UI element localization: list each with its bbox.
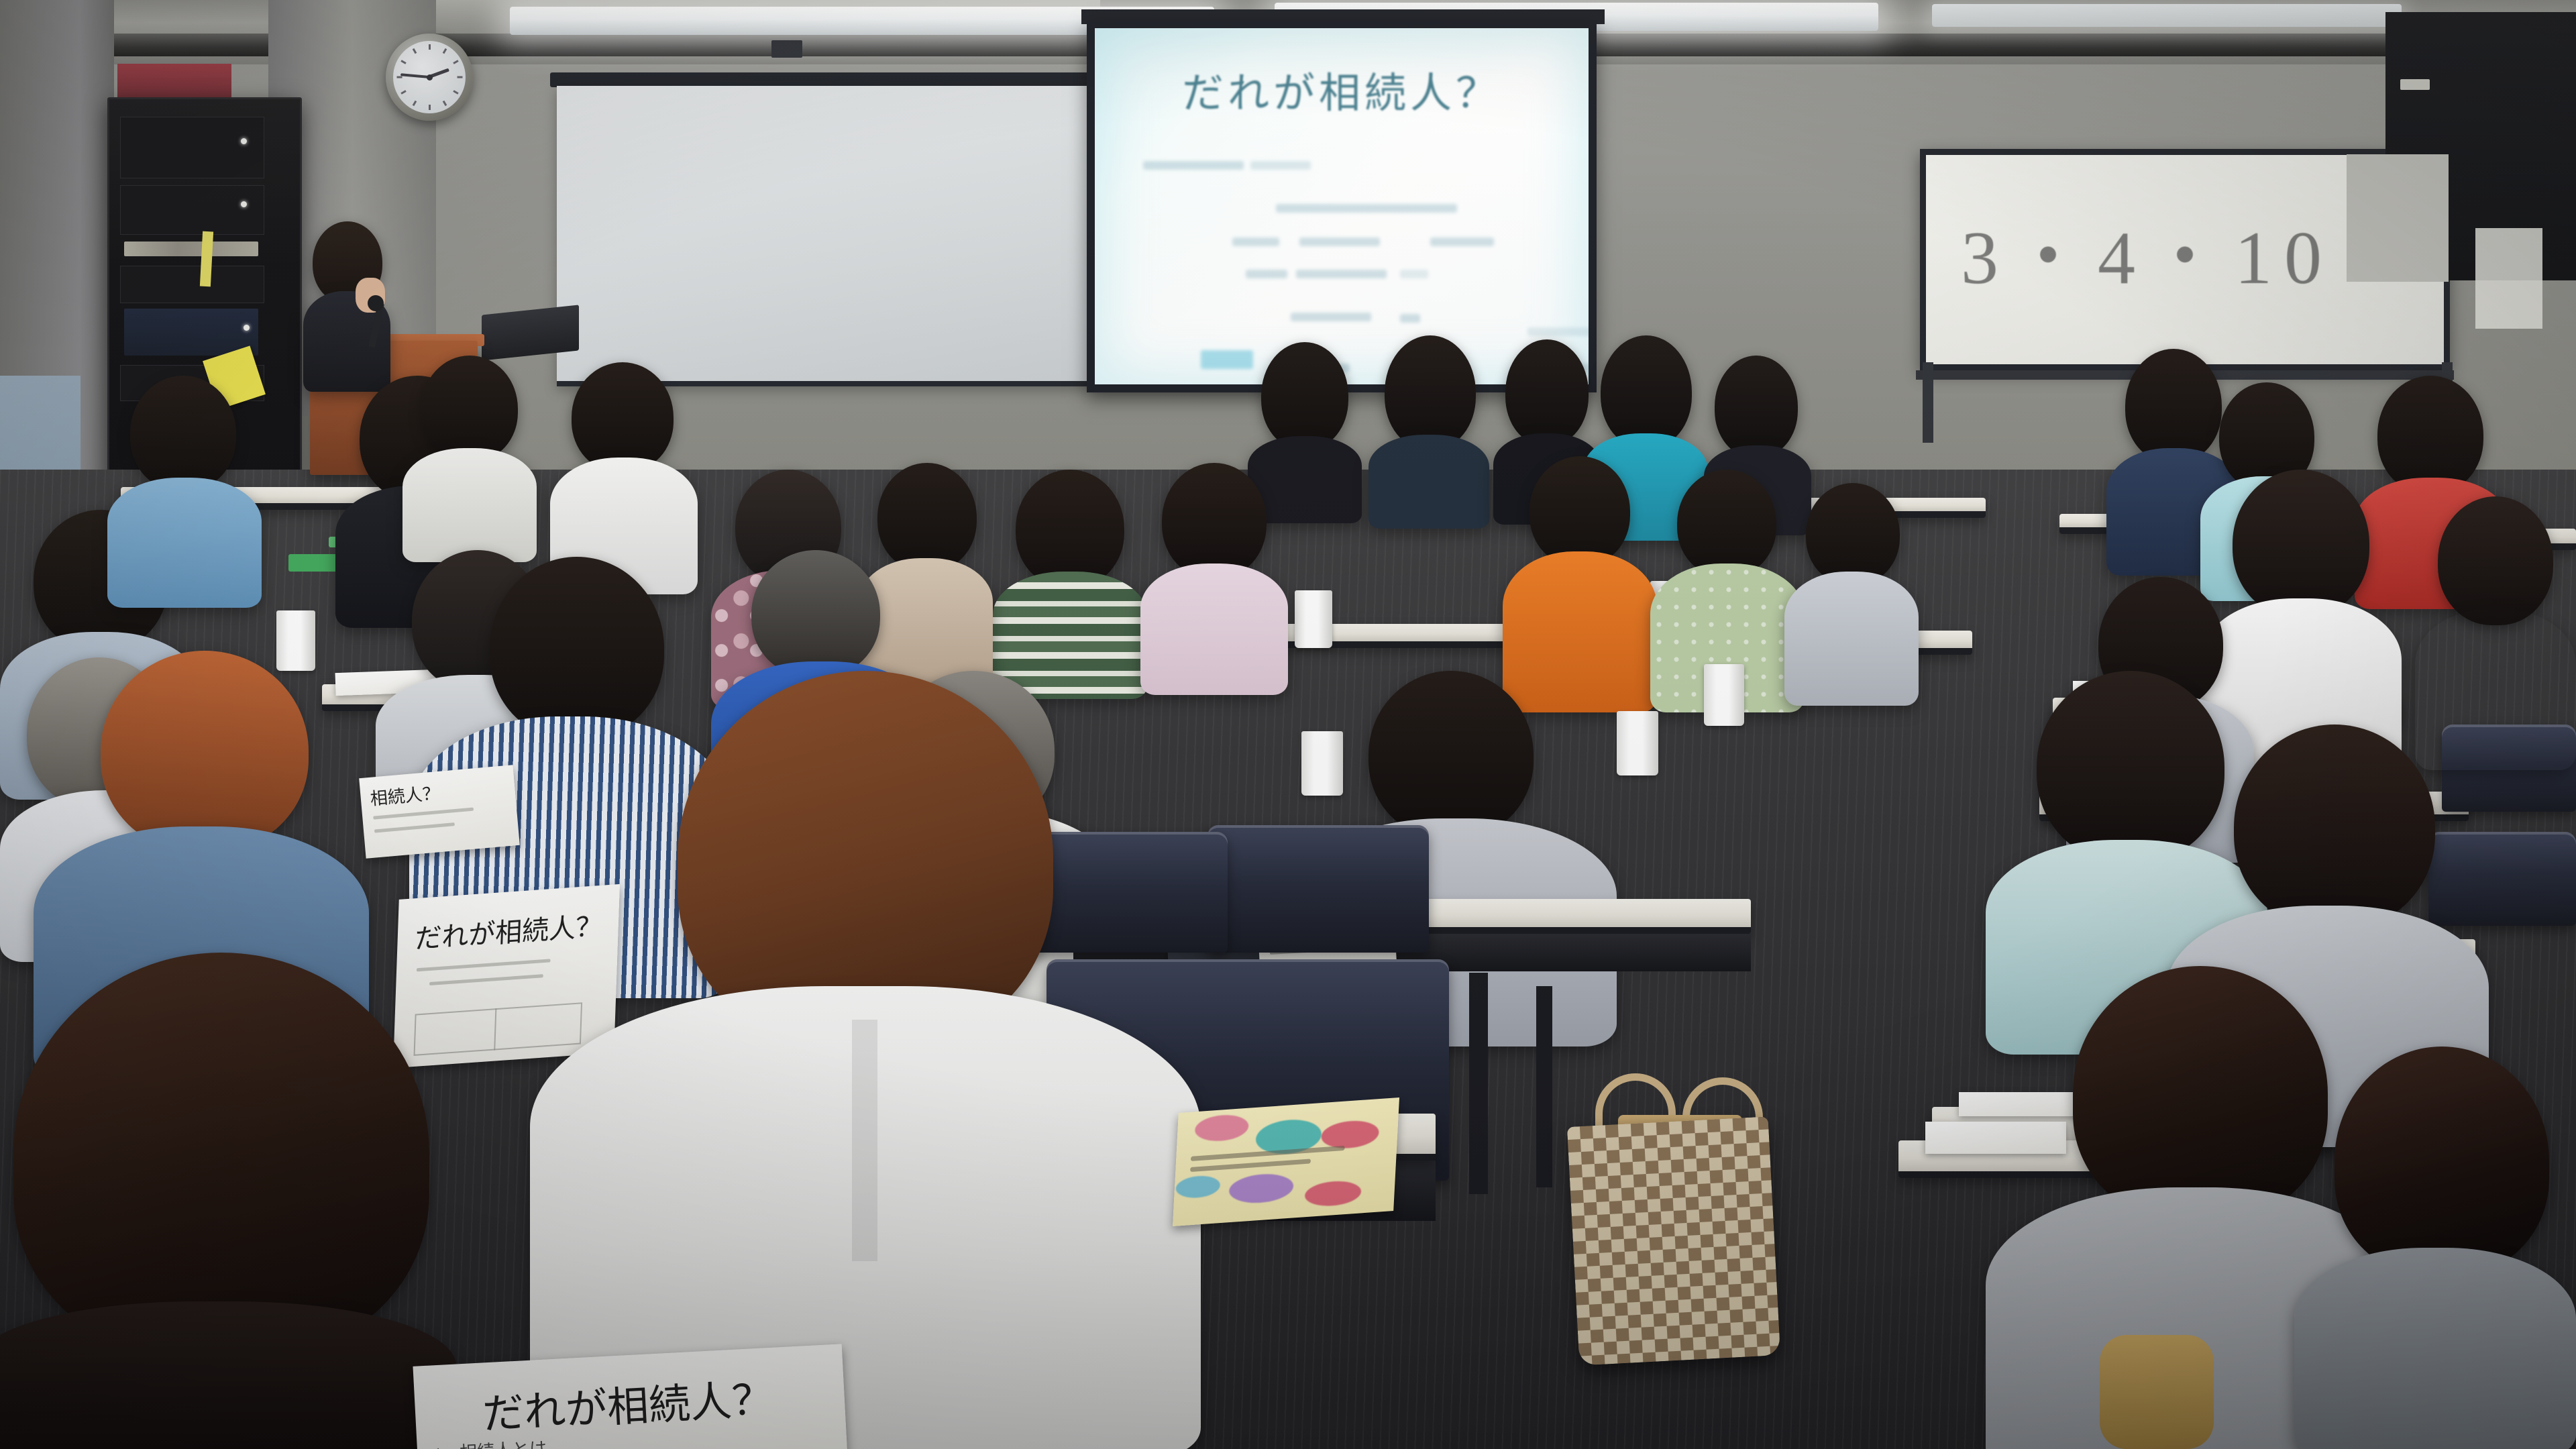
- handout-title: だれが相続人？: [481, 1365, 775, 1441]
- whiteboard-leg: [1923, 362, 1933, 443]
- attendee: [993, 470, 1147, 691]
- door-sign: [2400, 79, 2430, 90]
- paper-cup: [1617, 711, 1658, 775]
- projection-screen: だれが相続人？: [1087, 20, 1597, 392]
- ceiling-rail-clip: [771, 40, 802, 58]
- attendee: [402, 356, 537, 557]
- whiteboard-text: 3・4・10: [1961, 197, 2334, 305]
- attendee: [1368, 335, 1489, 523]
- attendee: [107, 376, 262, 604]
- chair-leg: [1536, 986, 1552, 1187]
- chair[interactable]: [1207, 825, 1429, 953]
- checkered-tote-bag: [1567, 1116, 1780, 1365]
- clock-minute-hand: [400, 73, 429, 78]
- wall-white-panel: [2347, 154, 2449, 282]
- attendee-foreground: [2294, 1046, 2576, 1449]
- paper-cup: [1295, 590, 1332, 648]
- attendee: [1784, 483, 1919, 704]
- color-leaflet: [1173, 1097, 1399, 1226]
- wooden-handle: [2100, 1335, 2214, 1449]
- slide-title: だれが相続人？: [1095, 59, 1589, 119]
- attendee-foreground: [530, 671, 1201, 1449]
- attendee: [1140, 463, 1288, 691]
- microphone-head-icon: [368, 295, 384, 311]
- fluorescent-light: [1932, 4, 2402, 27]
- paper-cup: [1704, 664, 1744, 726]
- wall-clock: [386, 34, 473, 121]
- attendee-foreground: [0, 953, 456, 1449]
- paper-cup: [1301, 731, 1343, 796]
- wall-notice: [2475, 228, 2542, 329]
- handout-sheet: 相続人？: [359, 765, 520, 859]
- chair-leg: [1469, 973, 1488, 1194]
- handout-title: 相続人？: [369, 780, 441, 810]
- seminar-room-photo: だれが相続人？ 3・4・10: [0, 0, 2576, 1449]
- rack-top-item: [117, 64, 231, 101]
